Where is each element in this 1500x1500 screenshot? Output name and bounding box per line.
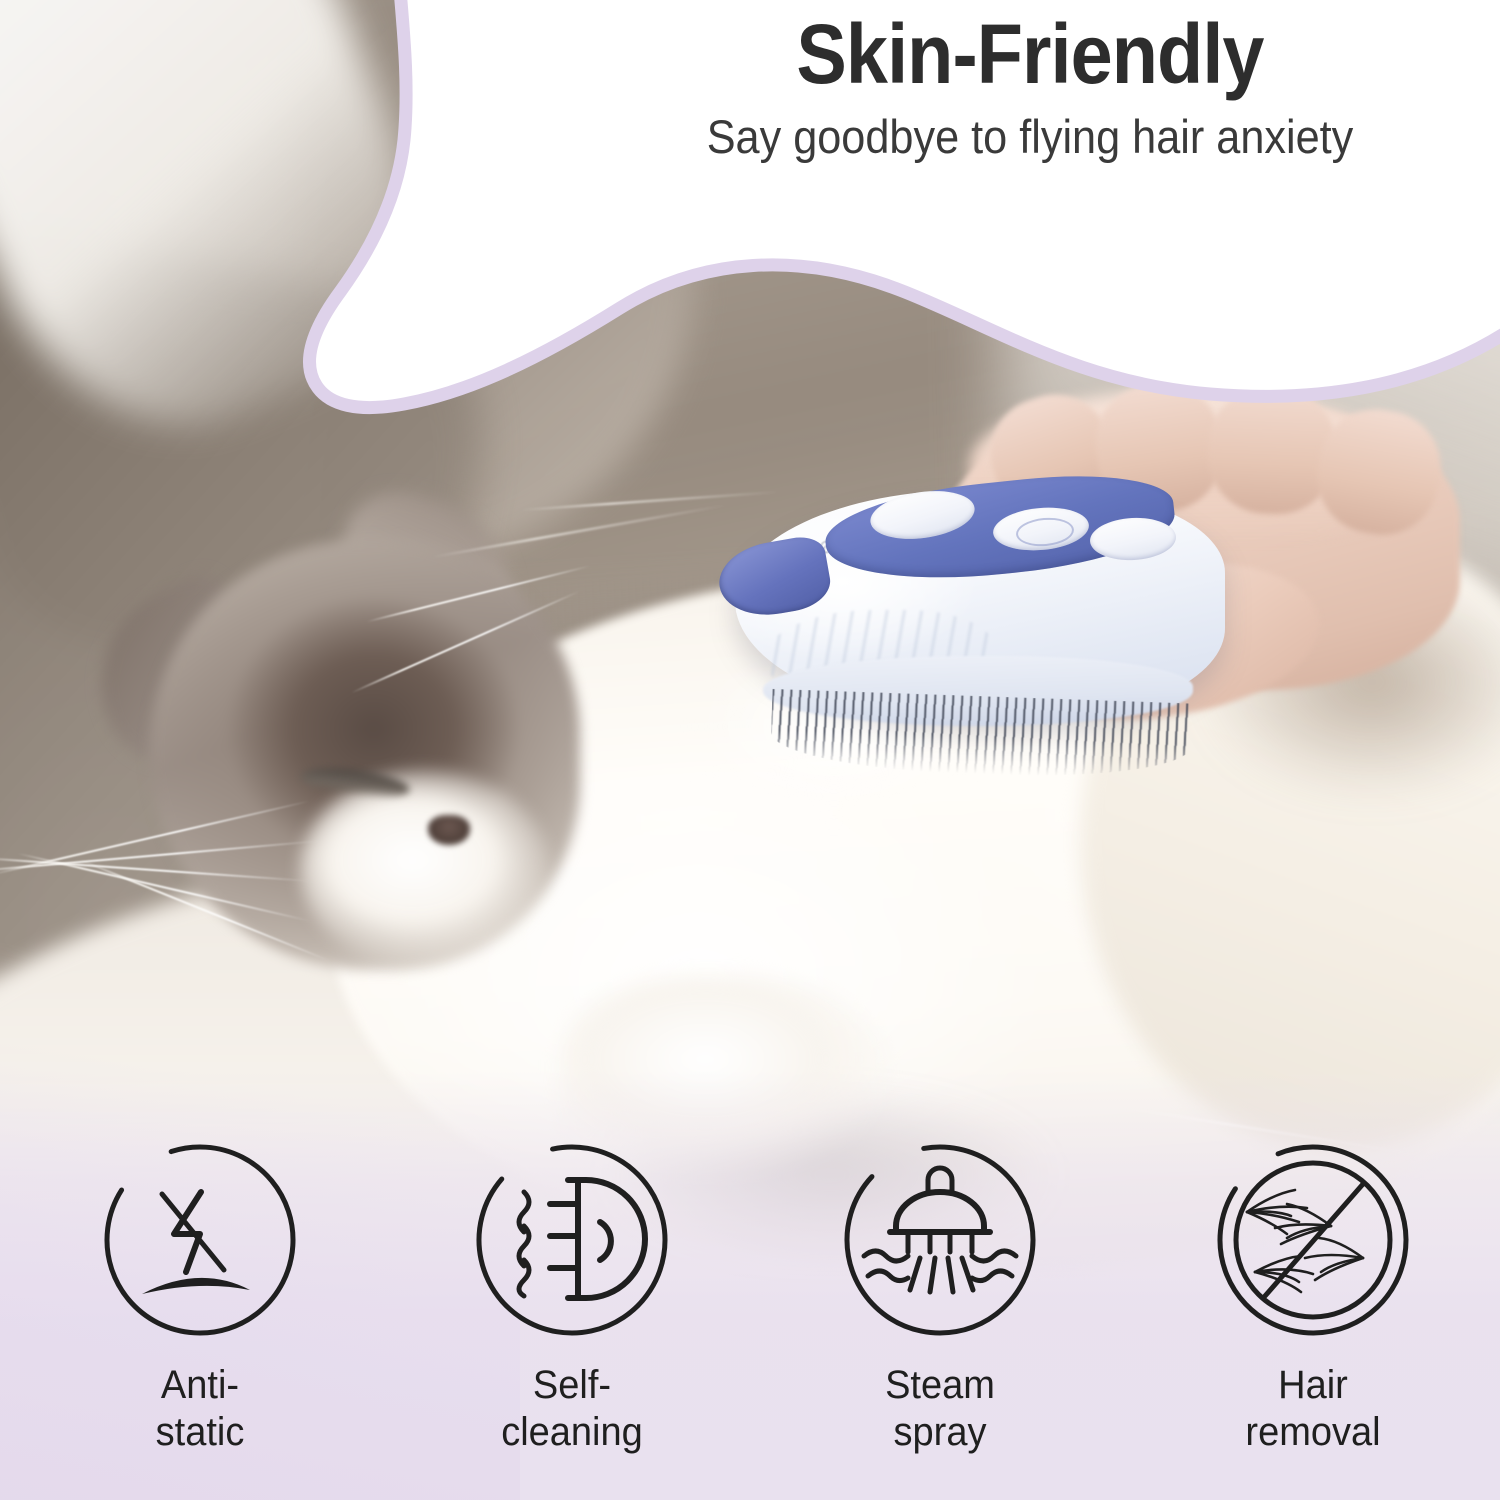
feature-label: Anti- static bbox=[58, 1362, 343, 1456]
steam-grooming-brush: ideapro bbox=[735, 460, 1255, 760]
feature-label: Self- cleaning bbox=[430, 1362, 715, 1456]
page-title: Skin-Friendly bbox=[607, 10, 1453, 98]
feature-label: Hair removal bbox=[1171, 1362, 1456, 1456]
feature-steam-spray: Steam spray bbox=[790, 1140, 1090, 1456]
self-cleaning-icon bbox=[472, 1140, 672, 1340]
feature-hair-removal: Hair removal bbox=[1163, 1140, 1463, 1456]
cat-nose bbox=[428, 815, 470, 845]
product-marketing-image: ideapro Skin-Friendly Say goodbye to fly… bbox=[0, 0, 1500, 1500]
no-loose-hair-icon bbox=[1213, 1140, 1413, 1340]
steam-spray-icon bbox=[840, 1140, 1040, 1340]
feature-label: Steam spray bbox=[798, 1362, 1083, 1456]
feature-self-cleaning: Self- cleaning bbox=[422, 1140, 722, 1456]
feature-anti-static: Anti- static bbox=[50, 1140, 350, 1456]
no-static-icon bbox=[100, 1140, 300, 1340]
headline-banner: Skin-Friendly Say goodbye to flying hair… bbox=[0, 0, 1500, 440]
banner-text-block: Skin-Friendly Say goodbye to flying hair… bbox=[560, 10, 1500, 164]
feature-icon-row: Anti- static Self- cleaning bbox=[0, 1140, 1500, 1500]
page-subtitle: Say goodbye to flying hair anxiety bbox=[598, 110, 1463, 164]
cat-muzzle bbox=[300, 770, 550, 970]
